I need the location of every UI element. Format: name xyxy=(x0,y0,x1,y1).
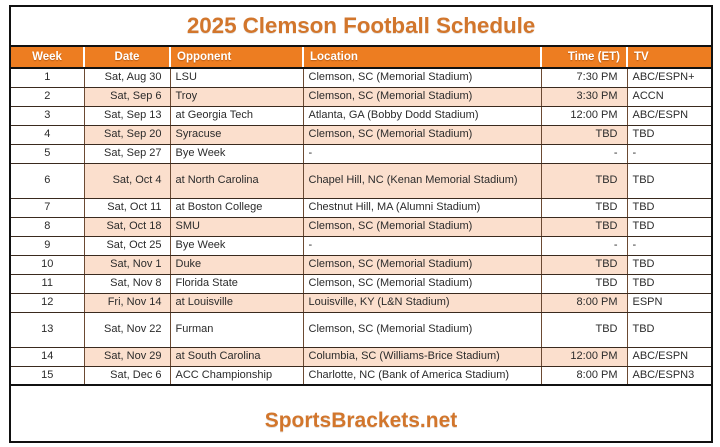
cell-opponent: LSU xyxy=(170,68,303,87)
table-header: Week Date Opponent Location Time (ET) TV xyxy=(11,47,711,68)
cell-location: Charlotte, NC (Bank of America Stadium) xyxy=(303,366,541,385)
cell-week: 12 xyxy=(11,293,84,312)
cell-week: 13 xyxy=(11,312,84,347)
header-row: Week Date Opponent Location Time (ET) TV xyxy=(11,47,711,68)
cell-week: 8 xyxy=(11,217,84,236)
table-row: 15Sat, Dec 6ACC ChampionshipCharlotte, N… xyxy=(11,366,711,385)
cell-location: Clemson, SC (Memorial Stadium) xyxy=(303,312,541,347)
cell-tv: TBD xyxy=(627,198,711,217)
column-header-tv[interactable]: TV xyxy=(627,47,711,68)
cell-time: TBD xyxy=(541,163,627,198)
cell-opponent: at Boston College xyxy=(170,198,303,217)
table-body: 1Sat, Aug 30LSUClemson, SC (Memorial Sta… xyxy=(11,68,711,385)
cell-date: Sat, Nov 22 xyxy=(84,312,170,347)
cell-date: Sat, Nov 29 xyxy=(84,347,170,366)
schedule-page: 2025 Clemson Football Schedule Week Date… xyxy=(0,0,720,447)
cell-time: 7:30 PM xyxy=(541,68,627,87)
cell-time: TBD xyxy=(541,255,627,274)
cell-opponent: at North Carolina xyxy=(170,163,303,198)
cell-location: Clemson, SC (Memorial Stadium) xyxy=(303,87,541,106)
cell-time: - xyxy=(541,144,627,163)
cell-week: 4 xyxy=(11,125,84,144)
cell-date: Sat, Sep 27 xyxy=(84,144,170,163)
cell-opponent: Syracuse xyxy=(170,125,303,144)
table-row: 1Sat, Aug 30LSUClemson, SC (Memorial Sta… xyxy=(11,68,711,87)
cell-date: Fri, Nov 14 xyxy=(84,293,170,312)
cell-tv: TBD xyxy=(627,217,711,236)
cell-time: TBD xyxy=(541,125,627,144)
cell-location: Chestnut Hill, MA (Alumni Stadium) xyxy=(303,198,541,217)
table-row: 2Sat, Sep 6TroyClemson, SC (Memorial Sta… xyxy=(11,87,711,106)
table-row: 7Sat, Oct 11at Boston CollegeChestnut Hi… xyxy=(11,198,711,217)
cell-date: Sat, Sep 20 xyxy=(84,125,170,144)
cell-time: 12:00 PM xyxy=(541,347,627,366)
cell-date: Sat, Nov 1 xyxy=(84,255,170,274)
cell-location: Atlanta, GA (Bobby Dodd Stadium) xyxy=(303,106,541,125)
footer-bar: SportsBrackets.net xyxy=(11,400,711,441)
cell-opponent: Bye Week xyxy=(170,236,303,255)
column-header-time[interactable]: Time (ET) xyxy=(541,47,627,68)
cell-time: 8:00 PM xyxy=(541,293,627,312)
cell-location: Columbia, SC (Williams-Brice Stadium) xyxy=(303,347,541,366)
table-row: 8Sat, Oct 18SMUClemson, SC (Memorial Sta… xyxy=(11,217,711,236)
cell-opponent: Florida State xyxy=(170,274,303,293)
cell-opponent: at Georgia Tech xyxy=(170,106,303,125)
cell-tv: TBD xyxy=(627,274,711,293)
cell-week: 6 xyxy=(11,163,84,198)
table-row: 10Sat, Nov 1DukeClemson, SC (Memorial St… xyxy=(11,255,711,274)
site-brand: SportsBrackets.net xyxy=(265,409,458,433)
column-header-week[interactable]: Week xyxy=(11,47,84,68)
cell-date: Sat, Oct 11 xyxy=(84,198,170,217)
cell-tv: ABC/ESPN xyxy=(627,106,711,125)
cell-location: - xyxy=(303,144,541,163)
cell-week: 14 xyxy=(11,347,84,366)
cell-location: Clemson, SC (Memorial Stadium) xyxy=(303,255,541,274)
schedule-table-wrapper: Week Date Opponent Location Time (ET) TV… xyxy=(11,47,711,400)
cell-opponent: Furman xyxy=(170,312,303,347)
column-header-location[interactable]: Location xyxy=(303,47,541,68)
cell-tv: ACCN xyxy=(627,87,711,106)
cell-opponent: SMU xyxy=(170,217,303,236)
table-row: 3Sat, Sep 13at Georgia TechAtlanta, GA (… xyxy=(11,106,711,125)
cell-location: Clemson, SC (Memorial Stadium) xyxy=(303,217,541,236)
table-row: 9Sat, Oct 25Bye Week--- xyxy=(11,236,711,255)
cell-week: 10 xyxy=(11,255,84,274)
cell-opponent: at South Carolina xyxy=(170,347,303,366)
schedule-table: Week Date Opponent Location Time (ET) TV… xyxy=(11,47,711,386)
cell-location: Louisville, KY (L&N Stadium) xyxy=(303,293,541,312)
title-bar: 2025 Clemson Football Schedule xyxy=(11,7,711,47)
cell-tv: ABC/ESPN3 xyxy=(627,366,711,385)
cell-tv: - xyxy=(627,144,711,163)
schedule-frame: 2025 Clemson Football Schedule Week Date… xyxy=(9,5,713,443)
table-row: 12Fri, Nov 14at LouisvilleLouisville, KY… xyxy=(11,293,711,312)
cell-tv: ABC/ESPN xyxy=(627,347,711,366)
cell-date: Sat, Sep 13 xyxy=(84,106,170,125)
table-row: 13Sat, Nov 22FurmanClemson, SC (Memorial… xyxy=(11,312,711,347)
cell-time: 3:30 PM xyxy=(541,87,627,106)
cell-location: Clemson, SC (Memorial Stadium) xyxy=(303,274,541,293)
cell-tv: ESPN xyxy=(627,293,711,312)
cell-date: Sat, Oct 4 xyxy=(84,163,170,198)
column-header-opponent[interactable]: Opponent xyxy=(170,47,303,68)
table-row: 14Sat, Nov 29at South CarolinaColumbia, … xyxy=(11,347,711,366)
cell-time: 8:00 PM xyxy=(541,366,627,385)
cell-opponent: Duke xyxy=(170,255,303,274)
cell-week: 9 xyxy=(11,236,84,255)
cell-tv: TBD xyxy=(627,255,711,274)
cell-date: Sat, Oct 25 xyxy=(84,236,170,255)
cell-opponent: Troy xyxy=(170,87,303,106)
cell-week: 1 xyxy=(11,68,84,87)
column-header-date[interactable]: Date xyxy=(84,47,170,68)
table-row: 6Sat, Oct 4at North CarolinaChapel Hill,… xyxy=(11,163,711,198)
cell-tv: - xyxy=(627,236,711,255)
cell-location: Chapel Hill, NC (Kenan Memorial Stadium) xyxy=(303,163,541,198)
cell-opponent: at Louisville xyxy=(170,293,303,312)
cell-tv: TBD xyxy=(627,125,711,144)
cell-time: TBD xyxy=(541,217,627,236)
cell-opponent: ACC Championship xyxy=(170,366,303,385)
table-row: 5Sat, Sep 27Bye Week--- xyxy=(11,144,711,163)
cell-opponent: Bye Week xyxy=(170,144,303,163)
cell-week: 3 xyxy=(11,106,84,125)
table-row: 4Sat, Sep 20SyracuseClemson, SC (Memoria… xyxy=(11,125,711,144)
cell-location: Clemson, SC (Memorial Stadium) xyxy=(303,125,541,144)
cell-week: 11 xyxy=(11,274,84,293)
cell-date: Sat, Nov 8 xyxy=(84,274,170,293)
cell-time: 12:00 PM xyxy=(541,106,627,125)
page-title: 2025 Clemson Football Schedule xyxy=(187,13,535,39)
cell-tv: ABC/ESPN+ xyxy=(627,68,711,87)
cell-time: TBD xyxy=(541,198,627,217)
cell-location: - xyxy=(303,236,541,255)
cell-week: 15 xyxy=(11,366,84,385)
cell-week: 5 xyxy=(11,144,84,163)
table-row: 11Sat, Nov 8Florida StateClemson, SC (Me… xyxy=(11,274,711,293)
cell-week: 7 xyxy=(11,198,84,217)
cell-time: TBD xyxy=(541,312,627,347)
cell-date: Sat, Sep 6 xyxy=(84,87,170,106)
cell-week: 2 xyxy=(11,87,84,106)
cell-date: Sat, Oct 18 xyxy=(84,217,170,236)
cell-date: Sat, Dec 6 xyxy=(84,366,170,385)
cell-location: Clemson, SC (Memorial Stadium) xyxy=(303,68,541,87)
cell-time: - xyxy=(541,236,627,255)
cell-date: Sat, Aug 30 xyxy=(84,68,170,87)
cell-tv: TBD xyxy=(627,312,711,347)
cell-time: TBD xyxy=(541,274,627,293)
cell-tv: TBD xyxy=(627,163,711,198)
